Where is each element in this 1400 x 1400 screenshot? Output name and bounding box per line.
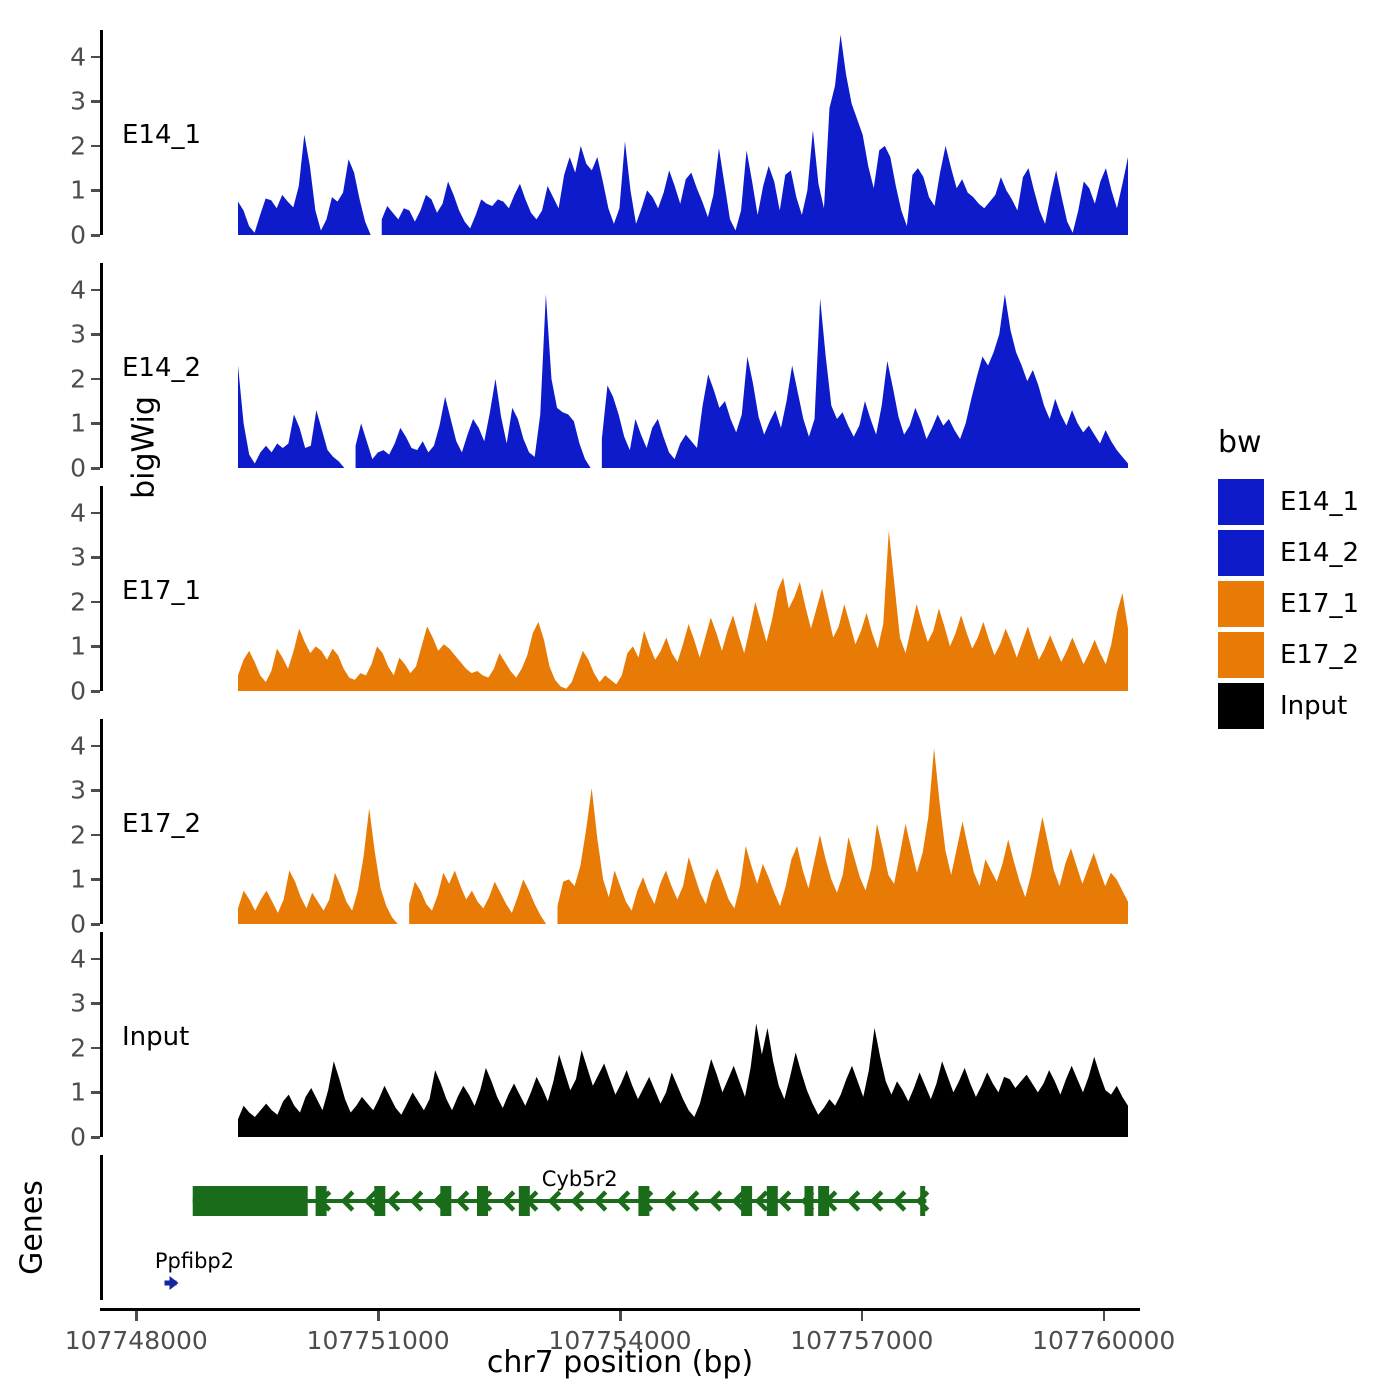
y-tick-label: 1 [70,411,86,436]
y-tick-label: 4 [70,277,86,302]
track-panel-input: 01234Input [100,932,1140,1137]
signal-area-e14_1 [100,30,1140,235]
y-tick [91,958,100,961]
y-tick [91,56,100,59]
y-tick [91,422,100,425]
y-tick [91,100,100,103]
track-panel-e14_1: 01234E14_1 [100,30,1140,235]
y-tick [91,378,100,381]
y-tick [91,467,100,470]
y-tick [91,834,100,837]
y-tick-label: 4 [70,733,86,758]
y-tick-label: 2 [70,366,86,391]
y-tick [91,789,100,792]
y-tick [91,1002,100,1005]
legend-label-e14_2: E14_2 [1280,538,1359,568]
y-tick-label: 0 [70,679,86,704]
x-axis-title: chr7 position (bp) [100,1345,1140,1380]
y-tick-label: 3 [70,322,86,347]
y-tick-label: 4 [70,946,86,971]
genes-group-title: Genes [15,1148,50,1308]
y-tick [91,745,100,748]
legend-label-input: Input [1280,691,1347,721]
track-panel-e17_2: 01234E17_2 [100,719,1140,924]
y-tick [91,1136,100,1139]
y-tick [91,512,100,515]
track-panel-e17_1: 01234E17_1 [100,486,1140,691]
y-tick-label: 3 [70,89,86,114]
y-tick-label: 1 [70,634,86,659]
y-tick-label: 2 [70,1035,86,1060]
y-tick-label: 4 [70,44,86,69]
y-tick-label: 3 [70,991,86,1016]
y-tick [91,189,100,192]
y-tick [91,556,100,559]
legend: bw E14_1E14_2E17_1E17_2Input [1210,425,1400,735]
y-tick [91,690,100,693]
legend-label-e14_1: E14_1 [1280,487,1359,517]
gene-model-ppfibp2 [100,1155,1140,1300]
y-tick [91,333,100,336]
signal-area-e17_2 [100,719,1140,924]
y-tick-label: 0 [70,1125,86,1150]
x-tick [377,1311,380,1321]
signal-area-e17_1 [100,486,1140,691]
y-tick-label: 0 [70,912,86,937]
signal-area-input [100,932,1140,1137]
y-tick-label: 1 [70,867,86,892]
x-tick [135,1311,138,1321]
y-tick-label: 0 [70,223,86,248]
track-panel-e14_2: 01234E14_2 [100,263,1140,468]
y-tick [91,601,100,604]
x-tick [1103,1311,1106,1321]
legend-swatch-e17_1[interactable] [1218,581,1264,627]
x-tick [619,1311,622,1321]
gene-label-ppfibp2: Ppfibp2 [155,1249,234,1273]
y-tick [91,1091,100,1094]
x-tick [861,1311,864,1321]
y-tick-label: 0 [70,456,86,481]
y-tick [91,645,100,648]
y-tick [91,234,100,237]
genome-browser-figure: bigWig Genes 01234E14_101234E14_201234E1… [0,0,1400,1400]
y-tick-label: 2 [70,822,86,847]
y-tick [91,923,100,926]
legend-label-e17_2: E17_2 [1280,640,1359,670]
legend-swatch-e14_1[interactable] [1218,479,1264,525]
legend-title: bw [1218,425,1262,460]
y-tick-label: 3 [70,778,86,803]
genes-panel: Cyb5r2Ppfibp2 [100,1155,1140,1300]
y-tick-label: 2 [70,589,86,614]
signal-area-e14_2 [100,263,1140,468]
y-tick-label: 3 [70,545,86,570]
y-tick [91,1047,100,1050]
y-tick [91,145,100,148]
y-tick-label: 1 [70,1080,86,1105]
legend-swatch-e14_2[interactable] [1218,530,1264,576]
y-tick [91,289,100,292]
y-tick-label: 4 [70,500,86,525]
y-tick [91,878,100,881]
legend-swatch-input[interactable] [1218,683,1264,729]
y-tick-label: 2 [70,133,86,158]
legend-label-e17_1: E17_1 [1280,589,1359,619]
legend-swatch-e17_2[interactable] [1218,632,1264,678]
y-tick-label: 1 [70,178,86,203]
